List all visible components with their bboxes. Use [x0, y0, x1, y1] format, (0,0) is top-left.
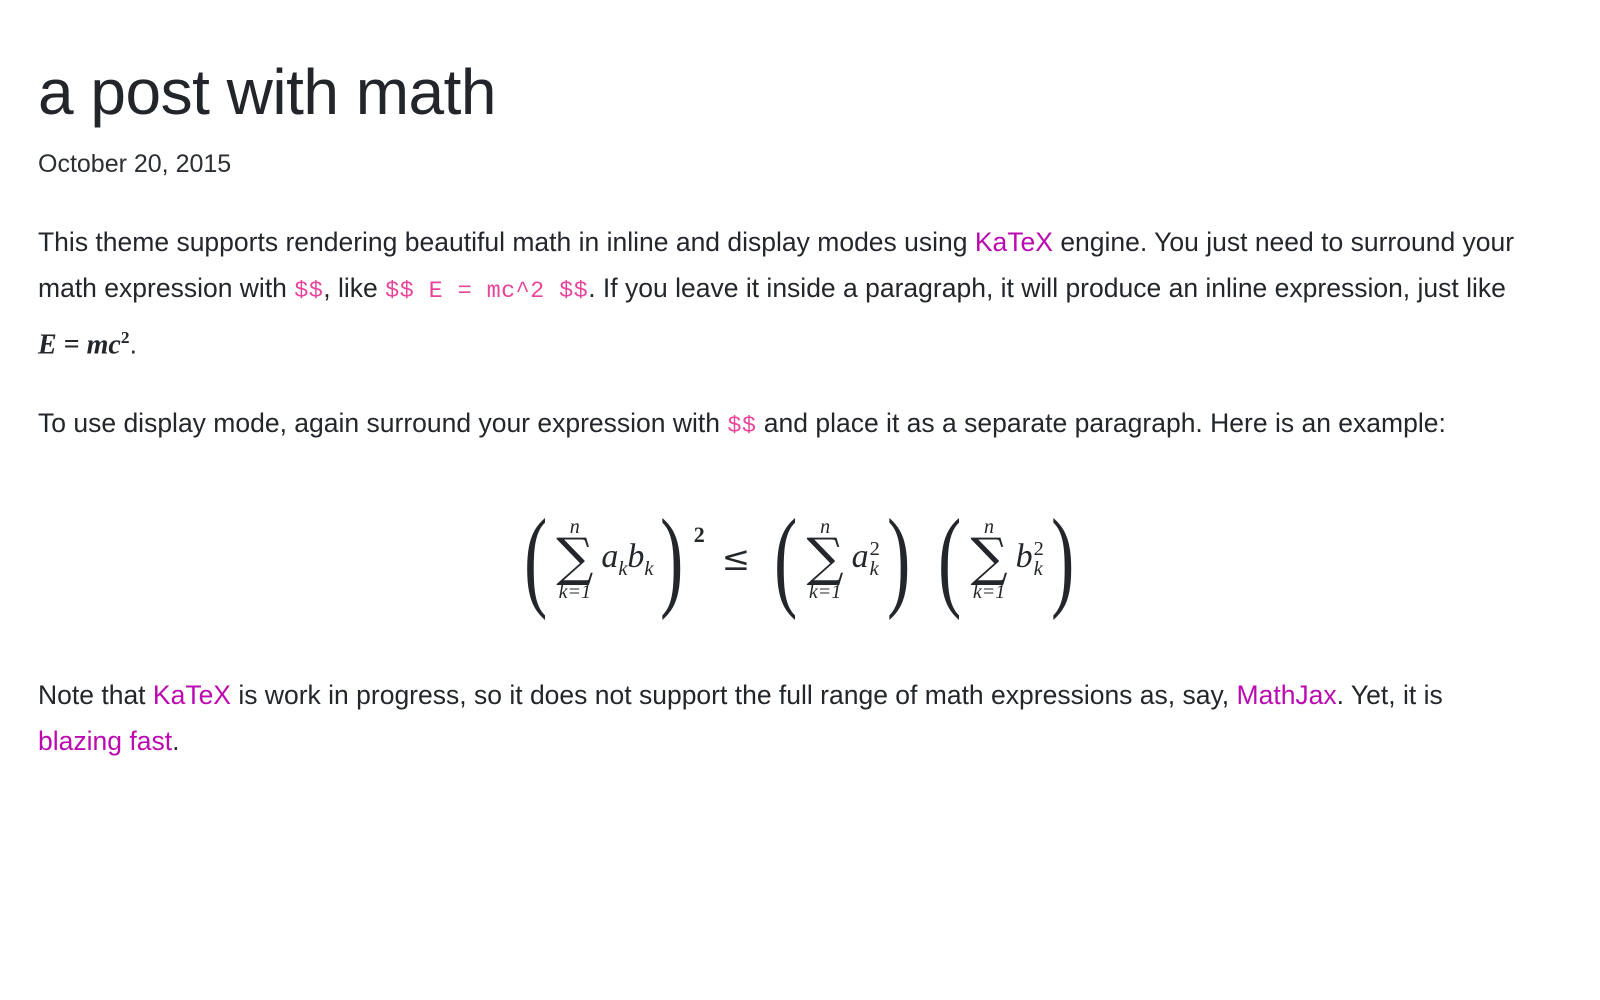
text-segment: .: [130, 329, 137, 359]
math-term-akbk: akbk: [601, 540, 653, 579]
post-page: a post with math October 20, 2015 This t…: [0, 0, 1600, 764]
link-mathjax[interactable]: MathJax: [1237, 680, 1337, 710]
text-segment: and place it as a separate paragraph. He…: [756, 408, 1445, 438]
display-math-container: ( n ∑ k=1 akbk ) 2 ≤ ( n ∑: [38, 484, 1560, 634]
paragraph-intro: This theme supports rendering beautiful …: [38, 219, 1530, 368]
math-var-b: b: [1016, 538, 1033, 575]
post-body: This theme supports rendering beautiful …: [38, 219, 1560, 764]
summation-2: n ∑ k=1: [807, 517, 844, 602]
paren-open: (: [774, 514, 797, 606]
inline-math-emc2: E=mc2: [38, 315, 130, 368]
text-segment: is work in progress, so it does not supp…: [231, 680, 1237, 710]
math-group-left: ( n ∑ k=1 akbk ) 2: [517, 514, 705, 606]
sigma-icon: ∑: [807, 535, 844, 583]
text-segment: . If you leave it inside a paragraph, it…: [588, 273, 1506, 303]
paragraph-note: Note that KaTeX is work in progress, so …: [38, 672, 1530, 764]
sigma-icon: ∑: [556, 535, 593, 583]
page-title: a post with math: [38, 58, 1560, 127]
math-rel-leq: ≤: [722, 542, 751, 576]
link-blazing-fast[interactable]: blazing fast: [38, 726, 172, 756]
link-katex[interactable]: KaTeX: [975, 227, 1053, 257]
math-rel-equals: =: [57, 329, 87, 360]
text-segment: To use display mode, again surround your…: [38, 408, 727, 438]
link-katex[interactable]: KaTeX: [153, 680, 231, 710]
text-segment: Note that: [38, 680, 153, 710]
math-group-a-squared: ( n ∑ k=1 a2k ): [767, 514, 917, 606]
text-segment: This theme supports rendering beautiful …: [38, 227, 975, 257]
math-sub-k: k: [870, 559, 880, 579]
math-term-bk2: b2k: [1016, 539, 1044, 580]
paren-close: ): [887, 514, 910, 606]
math-sub-k: k: [1034, 559, 1044, 579]
paren-open: (: [524, 514, 547, 606]
math-sup-2: 2: [1034, 539, 1044, 559]
display-math-cauchy-schwarz: ( n ∑ k=1 akbk ) 2 ≤ ( n ∑: [517, 514, 1081, 606]
math-sup-2: 2: [870, 539, 880, 559]
math-group-b-squared: ( n ∑ k=1 b2k ): [931, 514, 1081, 606]
paren-close: ): [661, 514, 684, 606]
text-segment: . Yet, it is: [1337, 680, 1443, 710]
sum-lower-limit: k=1: [809, 582, 841, 602]
post-date: October 20, 2015: [38, 149, 1560, 179]
paragraph-display-mode: To use display mode, again surround your…: [38, 400, 1530, 450]
sum-lower-limit: k=1: [973, 582, 1005, 602]
math-sub-k: k: [644, 558, 653, 580]
sum-lower-limit: k=1: [559, 582, 591, 602]
summation-1: n ∑ k=1: [556, 517, 593, 602]
inline-code-dollars: $$: [727, 413, 756, 440]
math-supsub: 2k: [870, 539, 880, 580]
math-var-E: E: [38, 329, 57, 360]
text-segment: .: [172, 726, 179, 756]
inline-code-dollars: $$: [294, 278, 323, 305]
paren-open: (: [938, 514, 961, 606]
paren-close: ): [1051, 514, 1074, 606]
math-supsub: 2k: [1034, 539, 1044, 580]
summation-3: n ∑ k=1: [970, 517, 1007, 602]
math-outer-exponent: 2: [694, 524, 705, 546]
sigma-icon: ∑: [970, 535, 1007, 583]
math-var-mc: mc: [87, 329, 121, 360]
math-var-a: a: [601, 538, 618, 575]
math-term-ak2: a2k: [852, 539, 880, 580]
text-segment: , like: [323, 273, 385, 303]
math-exponent-2: 2: [121, 328, 130, 347]
math-var-a: a: [852, 538, 869, 575]
inline-code-example: $$ E = mc^2 $$: [385, 278, 588, 305]
math-var-b: b: [627, 538, 644, 575]
